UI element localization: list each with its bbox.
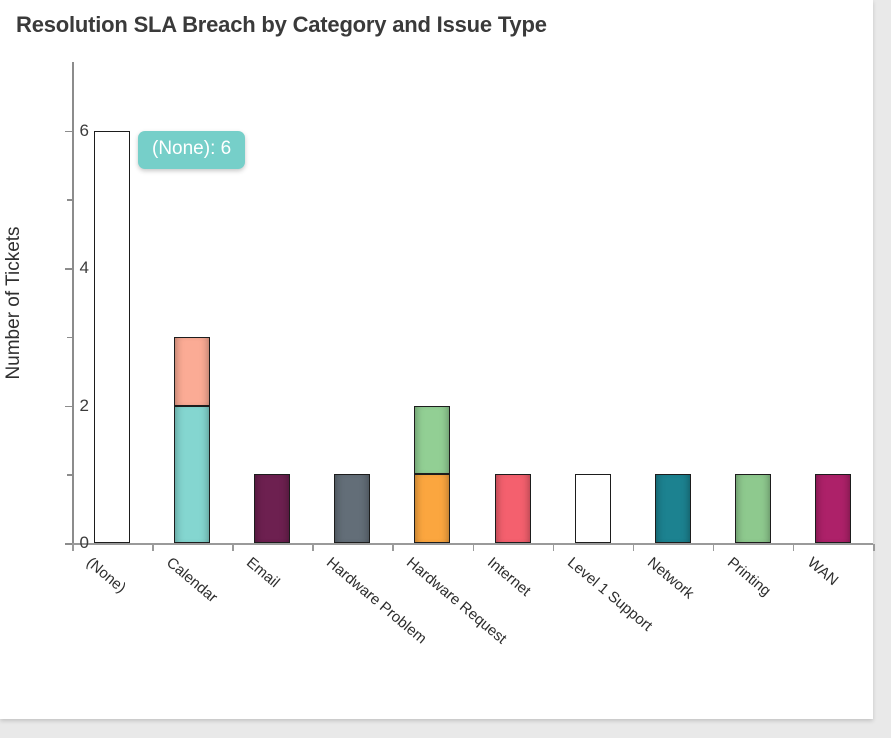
bar-network[interactable] (655, 474, 691, 543)
bar-internet[interactable] (495, 474, 531, 543)
y-tick-label: 0 (49, 533, 89, 553)
page-title: Resolution SLA Breach by Category and Is… (16, 12, 547, 38)
y-tick-minor (67, 199, 72, 201)
bar-segment[interactable] (174, 337, 210, 406)
bar-hardware-problem[interactable] (334, 474, 370, 543)
bar-segment[interactable] (815, 474, 851, 543)
y-tick-label: 2 (49, 396, 89, 416)
bar-segment[interactable] (655, 474, 691, 543)
bar-wan[interactable] (815, 474, 851, 543)
bar-level-1-support[interactable] (575, 474, 611, 543)
page-root: Resolution SLA Breach by Category and Is… (0, 0, 891, 738)
bar-segment[interactable] (414, 474, 450, 543)
bar-segment[interactable] (334, 474, 370, 543)
x-tick (793, 544, 795, 551)
x-tick (232, 544, 234, 551)
x-tick (312, 544, 314, 551)
bar-segment[interactable] (414, 406, 450, 475)
bar-segment[interactable] (94, 131, 130, 543)
bar-tooltip: (None): 6 (138, 131, 245, 169)
y-tick-label: 4 (49, 258, 89, 278)
x-axis-label: Printing (724, 554, 774, 600)
bar-segment[interactable] (495, 474, 531, 543)
bar-segment[interactable] (254, 474, 290, 543)
x-tick (473, 544, 475, 551)
x-axis-label: (None) (83, 554, 129, 597)
y-tick-label: 6 (49, 121, 89, 141)
x-tick (553, 544, 555, 551)
x-axis-label: Internet (484, 554, 534, 600)
chart-card: Resolution SLA Breach by Category and Is… (0, 0, 873, 719)
x-tick (873, 544, 875, 551)
x-axis-label: Network (644, 554, 697, 602)
bar-calendar[interactable] (174, 337, 210, 543)
x-axis-label: Email (243, 554, 283, 591)
x-axis-label: Level 1 Support (564, 554, 655, 635)
bar-printing[interactable] (735, 474, 771, 543)
x-tick (72, 544, 74, 551)
y-tick-minor (67, 337, 72, 339)
bar-email[interactable] (254, 474, 290, 543)
x-axis-label: Calendar (163, 554, 221, 606)
x-tick (392, 544, 394, 551)
y-axis-title: Number of Tickets (3, 226, 25, 379)
x-axis-label: WAN (804, 554, 841, 589)
bar-segment[interactable] (735, 474, 771, 543)
bar-none[interactable] (94, 131, 130, 543)
bar-hardware-request[interactable] (414, 406, 450, 543)
y-tick-minor (67, 474, 72, 476)
x-tick (152, 544, 154, 551)
x-tick (713, 544, 715, 551)
bar-segment[interactable] (174, 406, 210, 543)
x-tick (633, 544, 635, 551)
bar-segment[interactable] (575, 474, 611, 543)
